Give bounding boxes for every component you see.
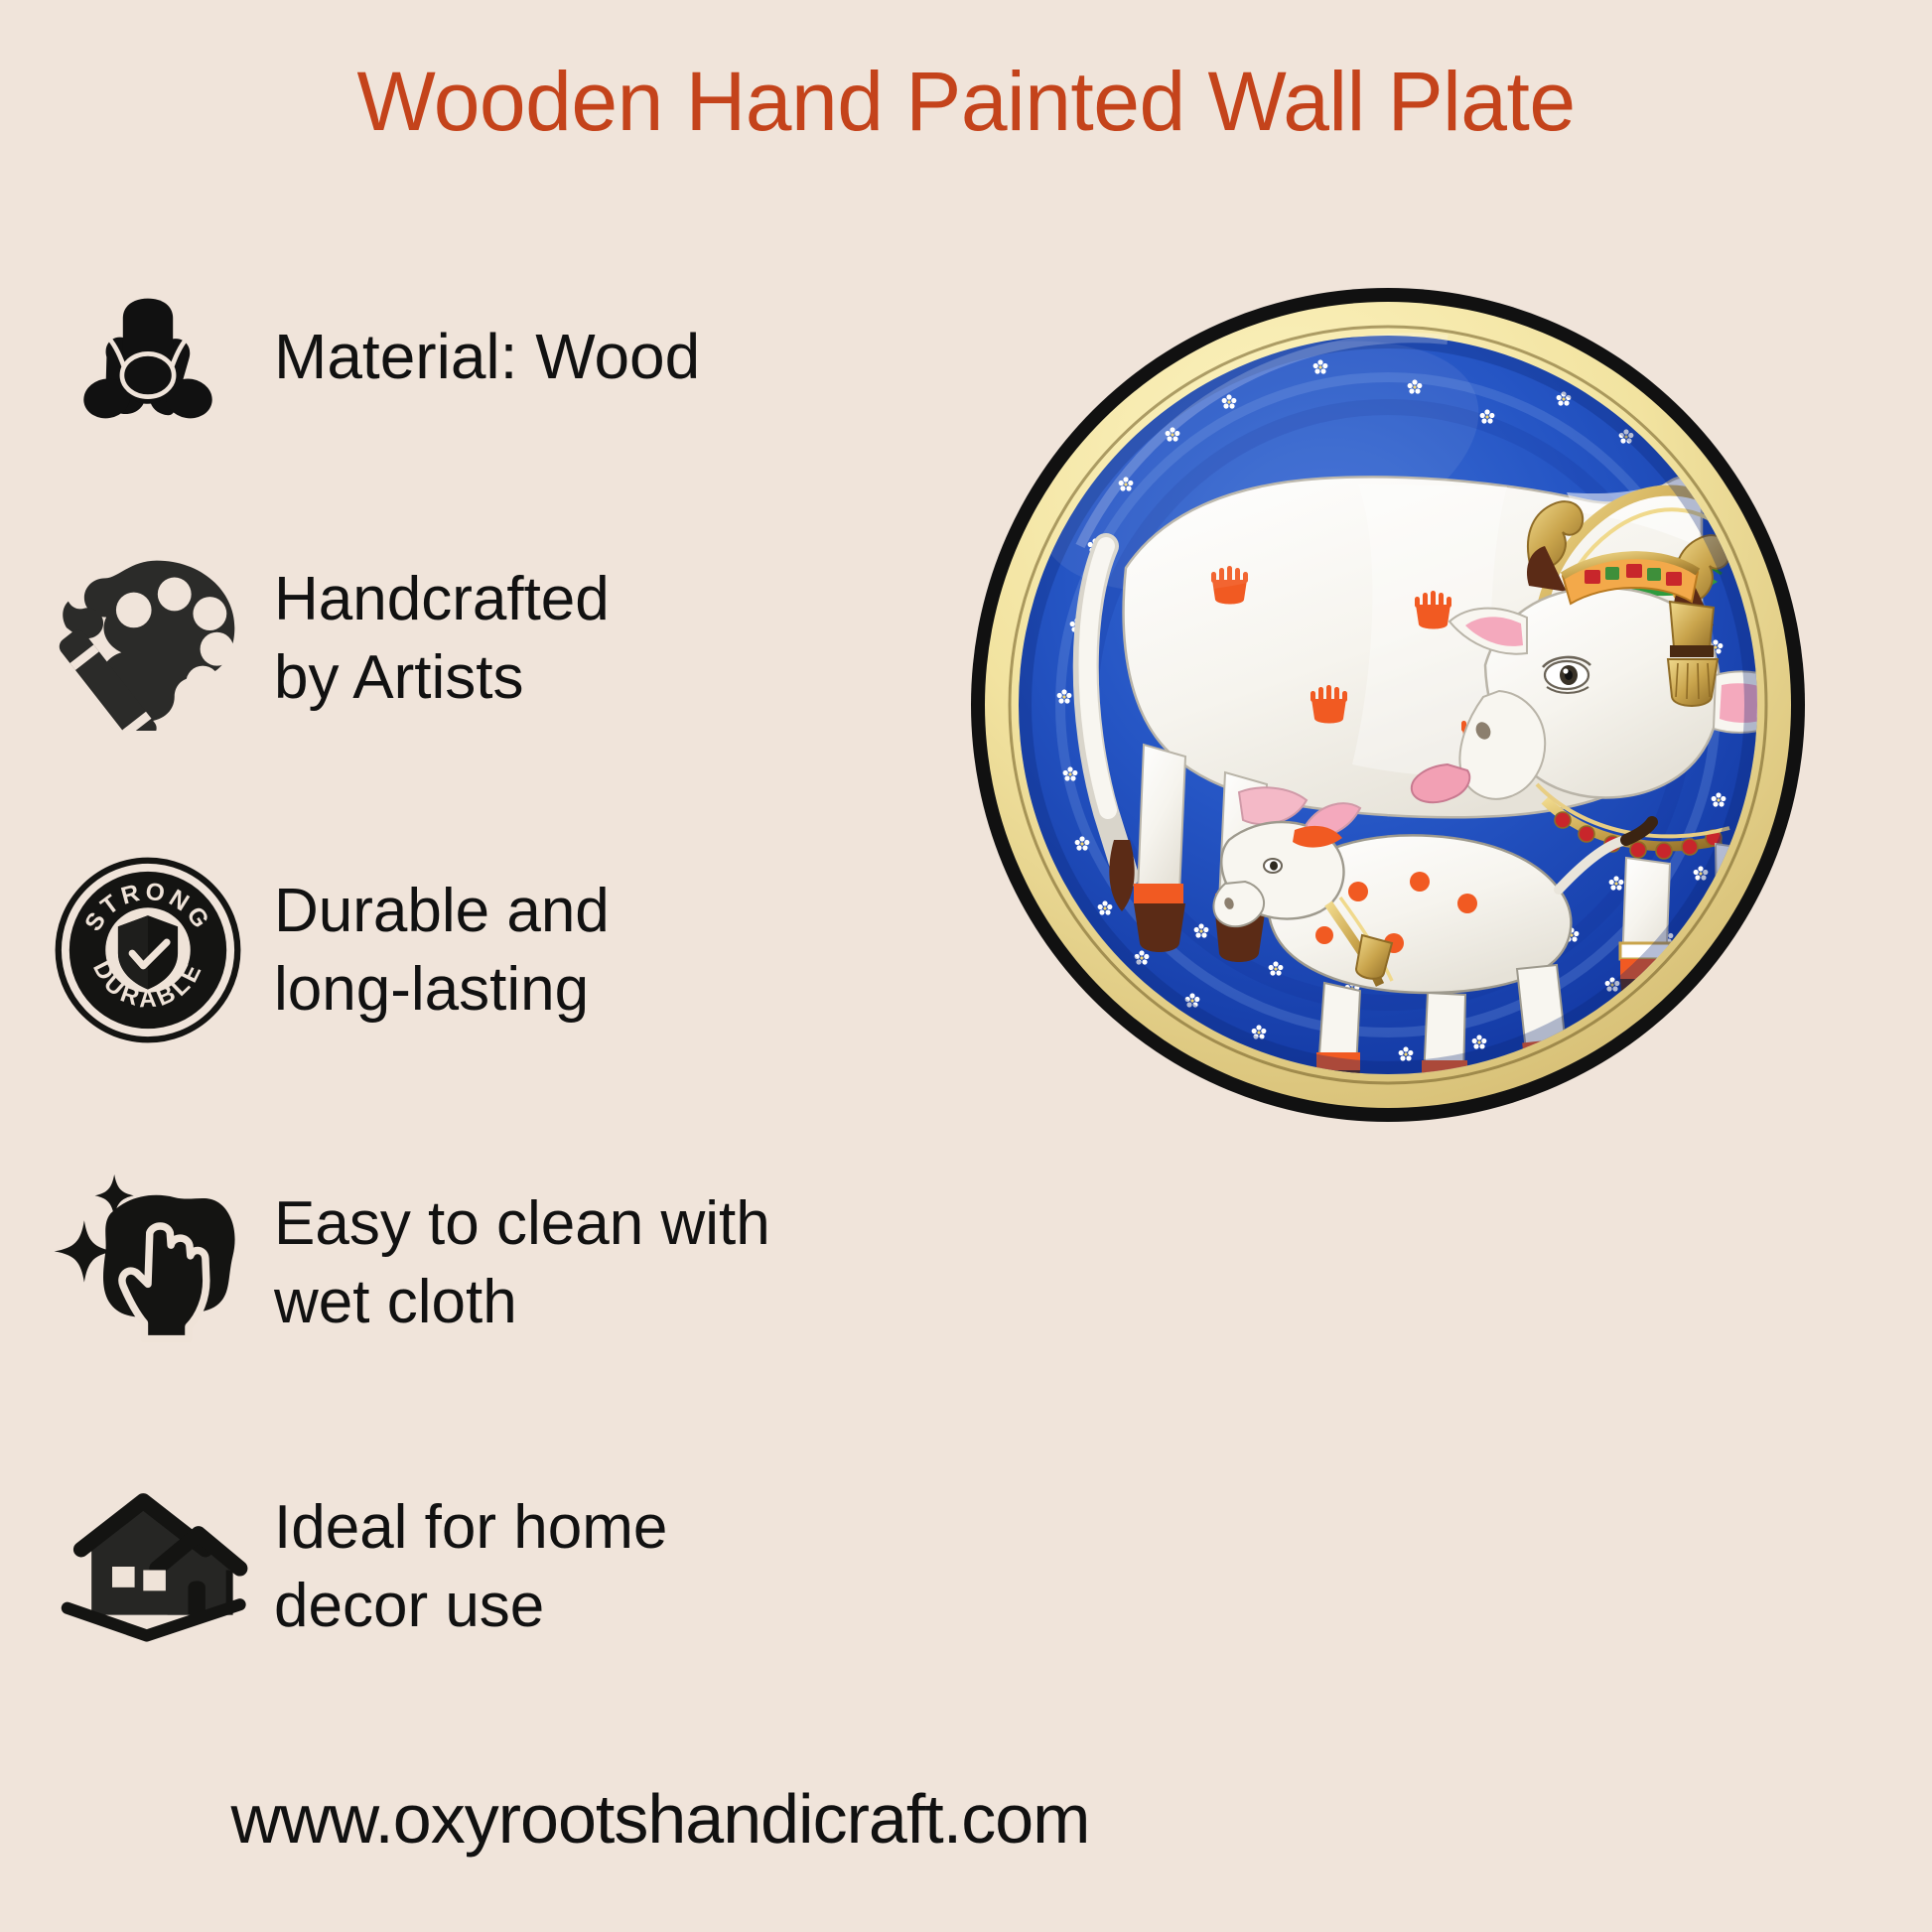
feature-label-handcrafted-line1: Handcrafted: [274, 560, 610, 638]
product-image-pichwai-wall-plate: [931, 248, 1845, 1162]
feature-row-home-decor: Ideal for home decor use: [34, 1418, 957, 1716]
page-title: Wooden Hand Painted Wall Plate: [0, 56, 1932, 147]
feature-label-durable-line1: Durable and: [274, 872, 610, 950]
title-bar: Wooden Hand Painted Wall Plate: [0, 56, 1932, 147]
feature-row-material: Material: Wood: [34, 230, 957, 484]
feature-list: Material: Wood: [34, 230, 957, 1716]
cleaning-hand-sparkle-icon: [34, 1108, 262, 1418]
feature-label-durable-line2: long-lasting: [274, 950, 610, 1029]
feature-row-handcrafted: Handcrafted by Artists: [34, 484, 957, 792]
house-home-icon: [34, 1418, 262, 1716]
feature-label-material: Material: Wood: [262, 317, 700, 398]
feature-label-home-decor-line1: Ideal for home: [274, 1488, 667, 1567]
feature-label-handcrafted: Handcrafted by Artists: [262, 560, 610, 718]
feature-label-easy-clean-line1: Easy to clean with: [274, 1184, 770, 1263]
feature-label-home-decor: Ideal for home decor use: [262, 1488, 667, 1646]
feature-label-easy-clean-line2: wet cloth: [274, 1263, 770, 1341]
feature-label-durable: Durable and long-lasting: [262, 872, 610, 1030]
paint-palette-brush-icon: [34, 484, 262, 792]
feature-row-durable: STRONG DURABLE Durable and long-lasting: [34, 792, 957, 1108]
feature-label-handcrafted-line2: by Artists: [274, 638, 610, 717]
wood-logs-icon: [34, 230, 262, 484]
feature-label-easy-clean: Easy to clean with wet cloth: [262, 1184, 770, 1342]
feature-label-home-decor-line2: decor use: [274, 1567, 667, 1645]
website-url[interactable]: www.oxyrootshandicraft.com: [0, 1779, 1320, 1859]
feature-row-easy-clean: Easy to clean with wet cloth: [34, 1108, 957, 1418]
strong-durable-badge-icon: STRONG DURABLE: [34, 792, 262, 1108]
